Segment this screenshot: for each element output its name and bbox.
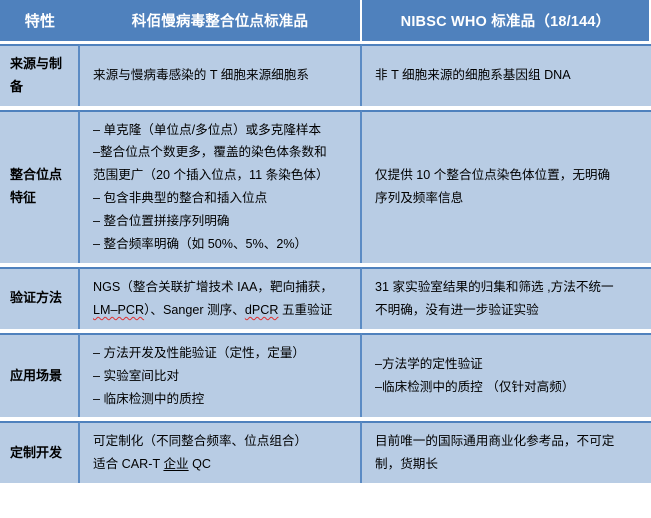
feature-text: 验证方法 <box>10 287 74 310</box>
row-nibsc-cell: 目前唯一的国际通用商业化参考品，不可定 制，货期长 <box>362 421 651 483</box>
cell-line: 非 T 细胞来源的细胞系基因组 DNA <box>375 64 642 87</box>
cell-line: – 包含非典型的整合和插入位点 <box>93 187 351 210</box>
cell-line: 31 家实验室结果的归集和筛选 ,方法不统一 <box>375 276 642 299</box>
table-row: 验证方法 NGS（整合关联扩增技术 IAA，靶向捕获， LM–PCR）、Sang… <box>0 267 651 329</box>
spellcheck-term: LM–PCR <box>93 303 144 317</box>
cell-line: 序列及频率信息 <box>375 187 642 210</box>
cell-line-spellchecked: LM–PCR）、Sanger 测序、dPCR 五重验证 <box>93 299 351 322</box>
row-feature-label: 来源与制备 <box>0 44 80 106</box>
feature-text: 来源与制备 <box>10 53 74 99</box>
cell-line: 可定制化（不同整合频率、位点组合） <box>93 430 351 453</box>
header-label-nibsc: NIBSC WHO 标准品（18/144） <box>401 14 611 30</box>
row-kebo-cell: 可定制化（不同整合频率、位点组合） 适合 CAR-T 企业 QC <box>80 421 362 483</box>
row-nibsc-cell: –方法学的定性验证 –临床检测中的质控 （仅针对高频） <box>362 333 651 418</box>
cell-line: 制，货期长 <box>375 453 642 476</box>
cell-line: 不明确，没有进一步验证实验 <box>375 299 642 322</box>
cell-line: – 实验室间比对 <box>93 365 351 388</box>
row-nibsc-cell: 31 家实验室结果的归集和筛选 ,方法不统一 不明确，没有进一步验证实验 <box>362 267 651 329</box>
cell-line: 来源与慢病毒感染的 T 细胞来源细胞系 <box>93 64 351 87</box>
row-kebo-cell: 来源与慢病毒感染的 T 细胞来源细胞系 <box>80 44 362 106</box>
header-cell-nibsc: NIBSC WHO 标准品（18/144） <box>362 0 651 44</box>
table-row: 定制开发 可定制化（不同整合频率、位点组合） 适合 CAR-T 企业 QC 目前… <box>0 421 651 483</box>
row-nibsc-cell: 非 T 细胞来源的细胞系基因组 DNA <box>362 44 651 106</box>
cell-line: – 整合位置拼接序列明确 <box>93 210 351 233</box>
feature-text: 整合位点特征 <box>10 164 74 210</box>
cell-line: 范围更广（20 个插入位点，11 条染色体） <box>93 164 351 187</box>
cell-line: – 单克隆（单位点/多位点）或多克隆样本 <box>93 119 351 142</box>
cell-line: –方法学的定性验证 <box>375 353 642 376</box>
header-cell-feature: 特性 <box>0 0 80 44</box>
row-kebo-cell: – 单克隆（单位点/多位点）或多克隆样本 –整合位点个数更多，覆盖的染色体条数和… <box>80 110 362 263</box>
row-nibsc-cell: 仅提供 10 个整合位点染色体位置，无明确 序列及频率信息 <box>362 110 651 263</box>
spellcheck-term: dPCR <box>245 303 279 317</box>
header-label-kebo: 科佰慢病毒整合位点标准品 <box>132 14 308 30</box>
row-kebo-cell: – 方法开发及性能验证（定性，定量） – 实验室间比对 – 临床检测中的质控 <box>80 333 362 418</box>
cell-line: – 临床检测中的质控 <box>93 388 351 411</box>
row-feature-label: 验证方法 <box>0 267 80 329</box>
feature-text: 应用场景 <box>10 365 74 388</box>
cell-line-tail: QC <box>189 457 211 471</box>
row-kebo-cell: NGS（整合关联扩增技术 IAA，靶向捕获， LM–PCR）、Sanger 测序… <box>80 267 362 329</box>
cell-line: –临床检测中的质控 （仅针对高频） <box>375 376 642 399</box>
cell-line-rest: ）、Sanger 测序、 <box>144 303 245 317</box>
row-feature-label: 定制开发 <box>0 421 80 483</box>
cell-line: 目前唯一的国际通用商业化参考品，不可定 <box>375 430 642 453</box>
underlined-term: 企业 <box>163 457 188 471</box>
cell-line: – 整合频率明确（如 50%、5%、2%） <box>93 233 351 256</box>
table-row: 应用场景 – 方法开发及性能验证（定性，定量） – 实验室间比对 – 临床检测中… <box>0 333 651 418</box>
cell-line: –整合位点个数更多，覆盖的染色体条数和 <box>93 141 351 164</box>
cell-line: NGS（整合关联扩增技术 IAA，靶向捕获， <box>93 276 351 299</box>
table-row: 整合位点特征 – 单克隆（单位点/多位点）或多克隆样本 –整合位点个数更多，覆盖… <box>0 110 651 263</box>
comparison-table: 特性 科佰慢病毒整合位点标准品 NIBSC WHO 标准品（18/144） 来源… <box>0 0 651 483</box>
cell-line: – 方法开发及性能验证（定性，定量） <box>93 342 351 365</box>
table-row: 来源与制备 来源与慢病毒感染的 T 细胞来源细胞系 非 T 细胞来源的细胞系基因… <box>0 44 651 106</box>
cell-line-tail: 五重验证 <box>278 303 332 317</box>
row-feature-label: 整合位点特征 <box>0 110 80 263</box>
row-feature-label: 应用场景 <box>0 333 80 418</box>
table-header-row: 特性 科佰慢病毒整合位点标准品 NIBSC WHO 标准品（18/144） <box>0 0 651 44</box>
feature-text: 定制开发 <box>10 442 74 465</box>
header-cell-kebo: 科佰慢病毒整合位点标准品 <box>80 0 362 44</box>
cell-line-underlined: 适合 CAR-T 企业 QC <box>93 453 351 476</box>
cell-line: 仅提供 10 个整合位点染色体位置，无明确 <box>375 164 642 187</box>
header-label-feature: 特性 <box>25 13 55 30</box>
cell-line-head: 适合 CAR-T <box>93 457 163 471</box>
